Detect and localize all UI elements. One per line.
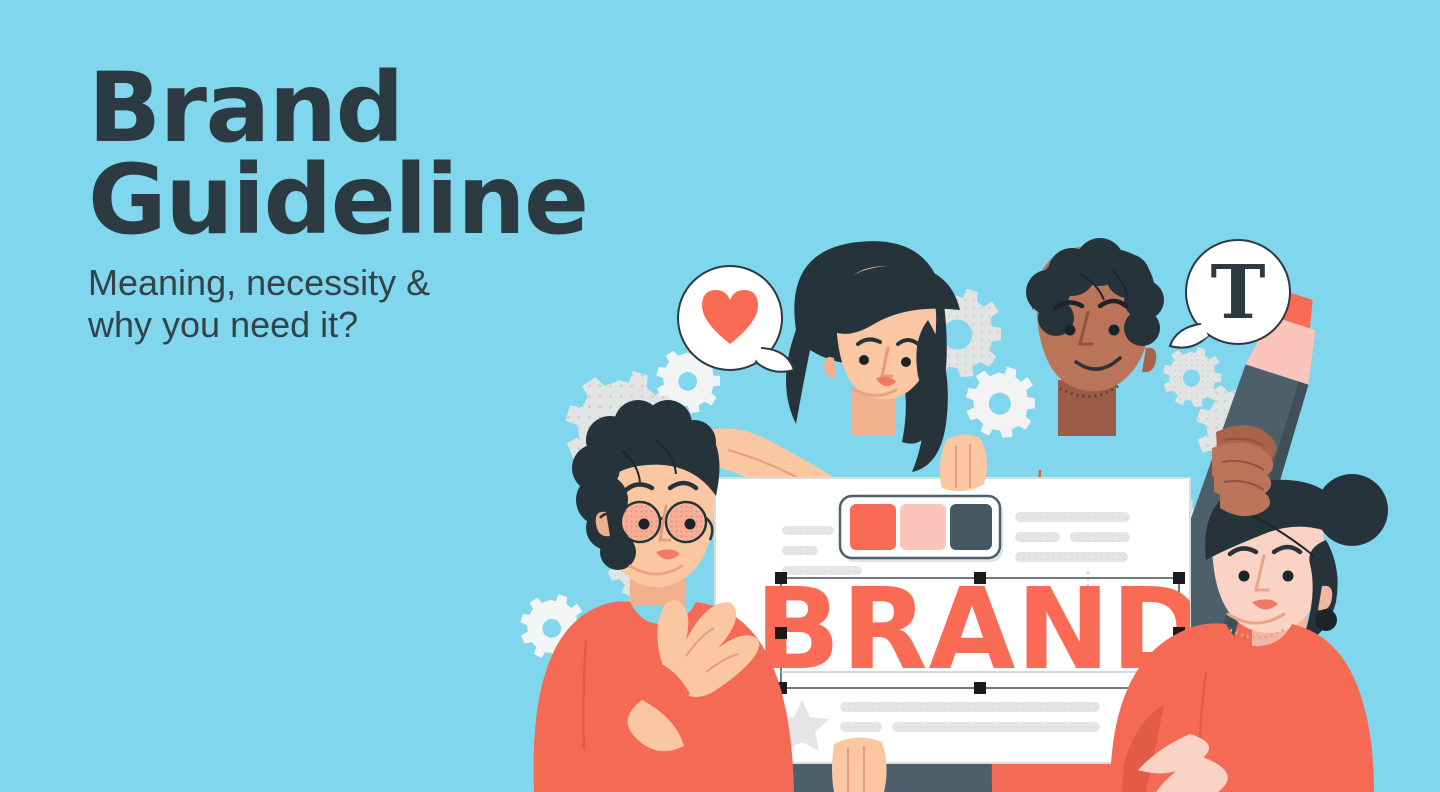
placeholder-bar	[840, 722, 882, 732]
selection-handle	[1173, 572, 1185, 584]
swatch-coral	[850, 504, 896, 550]
typography-bubble: T	[1170, 240, 1290, 348]
placeholder-bar	[1015, 532, 1060, 542]
hand-on-pencil	[1212, 425, 1277, 516]
swatch-blush	[900, 504, 946, 550]
page-title: Brand Guideline	[88, 62, 708, 246]
earring	[1315, 609, 1337, 631]
subtitle-line-2: why you need it?	[88, 304, 708, 346]
selection-handle	[775, 627, 787, 639]
hand-holding-board-left	[832, 737, 887, 792]
placeholder-bar	[840, 702, 1100, 712]
hair-bun	[1316, 474, 1388, 546]
selection-handle	[974, 682, 986, 694]
selection-handle	[974, 572, 986, 584]
typography-t-glyph: T	[1210, 250, 1265, 336]
gear-icon	[966, 367, 1035, 438]
placeholder-bar	[782, 546, 818, 555]
placeholder-bar	[1070, 532, 1130, 542]
placeholder-bar	[782, 526, 834, 535]
placeholder-bar	[1015, 552, 1128, 562]
placeholder-bar	[1015, 512, 1130, 522]
hand-grip-top	[940, 434, 987, 491]
subtitle-line-1: Meaning, necessity &	[88, 262, 708, 304]
selection-handle	[775, 572, 787, 584]
swatch-slate	[950, 504, 992, 550]
gear-icon	[1163, 347, 1222, 407]
page-subtitle: Meaning, necessity & why you need it?	[88, 262, 708, 346]
headline-block: Brand Guideline Meaning, necessity & why…	[88, 62, 708, 346]
palette-tray[interactable]	[840, 496, 1003, 562]
title-line-2: Guideline	[88, 154, 708, 246]
placeholder-bar	[892, 722, 1100, 732]
poster-canvas: Brand Guideline Meaning, necessity & why…	[0, 0, 1440, 792]
